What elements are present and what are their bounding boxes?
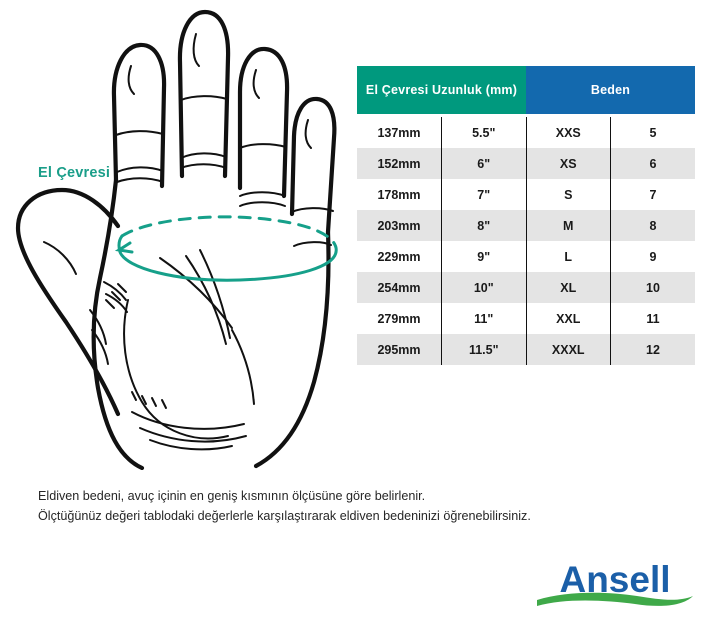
cell-inch: 8" xyxy=(442,210,527,241)
cell-num: 8 xyxy=(611,210,696,241)
hand-diagram xyxy=(0,0,352,470)
cell-inch: 11.5" xyxy=(442,334,527,365)
cell-mm: 178mm xyxy=(357,179,442,210)
cell-inch: 6" xyxy=(442,148,527,179)
caption: Eldiven bedeni, avuç içinin en geniş kıs… xyxy=(38,486,668,526)
cell-mm: 152mm xyxy=(357,148,442,179)
caption-line-2: Ölçtüğünüz değeri tablodaki değerlerle k… xyxy=(38,506,668,526)
cell-inch: 11" xyxy=(442,303,527,334)
table-row: 254mm 10" XL 10 xyxy=(357,272,695,303)
cell-mm: 203mm xyxy=(357,210,442,241)
ansell-wordmark: Ansell xyxy=(559,559,670,600)
cell-size: S xyxy=(526,179,611,210)
cell-mm: 279mm xyxy=(357,303,442,334)
ansell-logo: Ansell xyxy=(533,556,697,612)
cell-inch: 10" xyxy=(442,272,527,303)
cell-num: 10 xyxy=(611,272,696,303)
cell-num: 6 xyxy=(611,148,696,179)
cell-inch: 5.5" xyxy=(442,117,527,148)
cell-size: XS xyxy=(526,148,611,179)
table-row: 229mm 9" L 9 xyxy=(357,241,695,272)
cell-num: 7 xyxy=(611,179,696,210)
cell-size: XL xyxy=(526,272,611,303)
cell-size: XXS xyxy=(526,117,611,148)
cell-inch: 9" xyxy=(442,241,527,272)
header-size: Beden xyxy=(526,66,695,114)
caption-line-1: Eldiven bedeni, avuç içinin en geniş kıs… xyxy=(38,486,668,506)
cell-size: XXXL xyxy=(526,334,611,365)
table-row: 295mm 11.5" XXXL 12 xyxy=(357,334,695,365)
header-circumference: El Çevresi Uzunluk (mm) xyxy=(357,66,526,114)
glove-size-table: El Çevresi Uzunluk (mm) Beden 137mm 5.5"… xyxy=(357,66,695,365)
table-head: El Çevresi Uzunluk (mm) Beden xyxy=(357,66,695,117)
table-header-row: El Çevresi Uzunluk (mm) Beden xyxy=(357,66,695,114)
table-row: 178mm 7" S 7 xyxy=(357,179,695,210)
cell-num: 9 xyxy=(611,241,696,272)
hand-circumference-label: El Çevresi xyxy=(38,165,110,181)
cell-size: L xyxy=(526,241,611,272)
cell-mm: 254mm xyxy=(357,272,442,303)
cell-size: M xyxy=(526,210,611,241)
measure-dashed-arc xyxy=(122,217,336,252)
table-row: 137mm 5.5" XXS 5 xyxy=(357,117,695,148)
table-body: 137mm 5.5" XXS 5 152mm 6" XS 6 178mm 7" … xyxy=(357,117,695,365)
cell-mm: 295mm xyxy=(357,334,442,365)
table-row: 203mm 8" M 8 xyxy=(357,210,695,241)
cell-num: 11 xyxy=(611,303,696,334)
cell-mm: 229mm xyxy=(357,241,442,272)
cell-inch: 7" xyxy=(442,179,527,210)
cell-num: 5 xyxy=(611,117,696,148)
cell-mm: 137mm xyxy=(357,117,442,148)
table-row: 152mm 6" XS 6 xyxy=(357,148,695,179)
cell-num: 12 xyxy=(611,334,696,365)
table-row: 279mm 11" XXL 11 xyxy=(357,303,695,334)
measure-arrowhead xyxy=(119,243,132,252)
cell-size: XXL xyxy=(526,303,611,334)
